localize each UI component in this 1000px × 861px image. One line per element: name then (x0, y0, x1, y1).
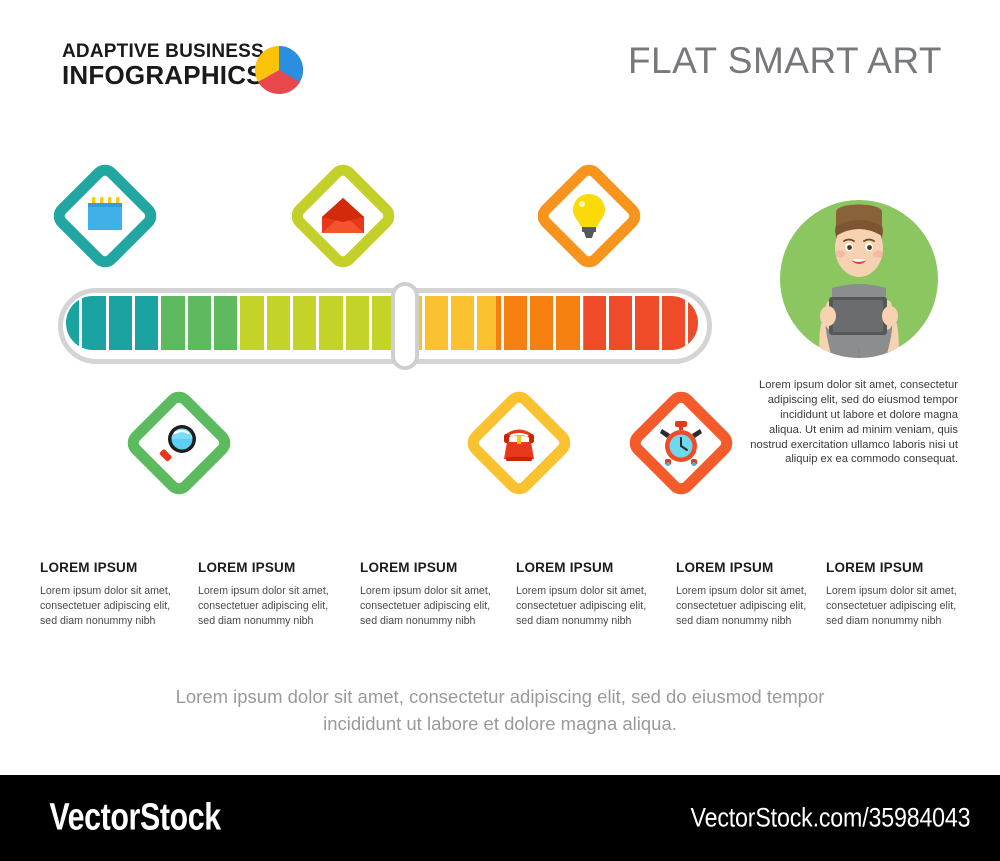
column-title: LOREM IPSUM (516, 560, 666, 575)
slider-tick (79, 296, 82, 350)
envelope-icon (320, 196, 366, 236)
column-body: Lorem ipsum dolor sit amet, consectetuer… (40, 584, 190, 629)
pie-chart-icon (253, 44, 305, 96)
vectorstock-logo: VectorStock (28, 797, 242, 840)
column-6: LOREM IPSUM Lorem ipsum dolor sit amet, … (826, 560, 976, 629)
column-title: LOREM IPSUM (40, 560, 190, 575)
brand-line-2: INFOGRAPHICS (62, 62, 264, 89)
column-body: Lorem ipsum dolor sit amet, consectetuer… (516, 584, 666, 629)
slider-tick (606, 296, 609, 350)
slider-tick (632, 296, 635, 350)
vectorstock-url-text: VectorStock.com/35984043 (690, 803, 970, 834)
slider-tick (659, 296, 662, 350)
diamond-phone[interactable] (458, 382, 580, 504)
slider-tick (369, 296, 372, 350)
slider-tick (316, 296, 319, 350)
column-body: Lorem ipsum dolor sit amet, consectetuer… (826, 584, 976, 629)
column-title: LOREM IPSUM (826, 560, 976, 575)
slider-ticks (66, 296, 698, 350)
woman-with-tablet-avatar (780, 200, 938, 358)
footer-caption: Lorem ipsum dolor sit amet, consectetur … (150, 684, 850, 738)
progress-slider[interactable] (58, 288, 712, 364)
slider-tick (185, 296, 188, 350)
lightbulb-icon (571, 192, 607, 240)
calendar-icon (83, 195, 127, 237)
slider-tick (106, 296, 109, 350)
infographic-canvas: ADAPTIVE BUSINESS INFOGRAPHICS FLAT SMAR… (0, 0, 1000, 775)
columns-row: LOREM IPSUM Lorem ipsum dolor sit amet, … (0, 560, 1000, 650)
slider-tick (343, 296, 346, 350)
column-title: LOREM IPSUM (360, 560, 510, 575)
slider-tick (422, 296, 425, 350)
slider-tick (501, 296, 504, 350)
page-title: FLAT SMART ART (628, 40, 942, 82)
column-title: LOREM IPSUM (198, 560, 348, 575)
column-body: Lorem ipsum dolor sit amet, consectetuer… (676, 584, 826, 629)
slider-tick (685, 296, 688, 350)
column-5: LOREM IPSUM Lorem ipsum dolor sit amet, … (676, 560, 826, 629)
column-body: Lorem ipsum dolor sit amet, consectetuer… (198, 584, 348, 629)
slider-handle[interactable] (391, 282, 419, 370)
slider-tick (553, 296, 556, 350)
slider-tick (132, 296, 135, 350)
column-3: LOREM IPSUM Lorem ipsum dolor sit amet, … (360, 560, 510, 629)
diamond-calendar[interactable] (44, 155, 166, 277)
slider-tick (527, 296, 530, 350)
slider-tick (158, 296, 161, 350)
slider-tick (580, 296, 583, 350)
slider-tick (474, 296, 477, 350)
slider-tick (211, 296, 214, 350)
slider-tick (264, 296, 267, 350)
slider-tick (448, 296, 451, 350)
diamond-lightbulb[interactable] (528, 155, 650, 277)
column-2: LOREM IPSUM Lorem ipsum dolor sit amet, … (198, 560, 348, 629)
diamond-envelope[interactable] (282, 155, 404, 277)
column-1: LOREM IPSUM Lorem ipsum dolor sit amet, … (40, 560, 190, 629)
vectorstock-logo-text: VectorStock (49, 797, 220, 840)
magnifier-icon (157, 421, 201, 465)
column-title: LOREM IPSUM (676, 560, 826, 575)
person-description: Lorem ipsum dolor sit amet, consectetur … (746, 378, 958, 467)
vectorstock-url: VectorStock.com/35984043 (645, 803, 970, 834)
column-body: Lorem ipsum dolor sit amet, consectetuer… (360, 584, 510, 629)
telephone-icon (498, 423, 540, 463)
column-4: LOREM IPSUM Lorem ipsum dolor sit amet, … (516, 560, 666, 629)
diamond-timer[interactable] (620, 382, 742, 504)
slider-tick (237, 296, 240, 350)
slider-tick (290, 296, 293, 350)
alarm-clock-icon (658, 419, 704, 467)
brand-logo: ADAPTIVE BUSINESS INFOGRAPHICS (62, 42, 264, 89)
diamond-search[interactable] (118, 382, 240, 504)
watermark-bar: VectorStock VectorStock.com/35984043 (0, 775, 1000, 861)
brand-line-1: ADAPTIVE BUSINESS (62, 42, 264, 62)
